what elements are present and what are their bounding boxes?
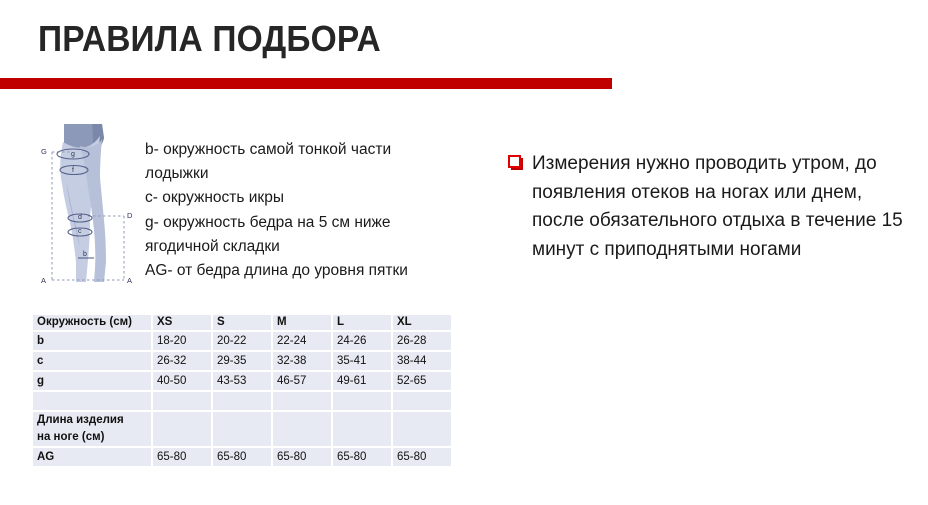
row-value-xs: 26-32 [152, 351, 212, 371]
table-row: AG 65-80 65-80 65-80 65-80 65-80 [33, 447, 451, 467]
section-cell [152, 411, 212, 447]
row-value-l: 49-61 [332, 371, 392, 391]
spacer-cell [272, 391, 332, 411]
legend-line-g: g- окружность бедра на 5 см ниже ягодичн… [145, 211, 445, 259]
row-label: c [33, 351, 152, 371]
svg-text:A: A [41, 276, 46, 285]
table-header-cell-measure: Окружность (см) [33, 315, 152, 331]
section-cell [392, 411, 451, 447]
row-value-xl: 38-44 [392, 351, 451, 371]
page-title: ПРАВИЛА ПОДБОРА [38, 17, 381, 61]
section-cell [332, 411, 392, 447]
size-chart-table: Окружность (см) XS S M L XL b 18-20 20-2… [33, 315, 451, 468]
row-value-m: 46-57 [272, 371, 332, 391]
svg-text:D: D [127, 211, 133, 220]
leg-measurement-diagram: g f d c b G D A A [36, 122, 146, 292]
row-value-s: 20-22 [212, 331, 272, 351]
row-value-l: 24-26 [332, 331, 392, 351]
table-header-cell-l: L [332, 315, 392, 331]
table-row: c 26-32 29-35 32-38 35-41 38-44 [33, 351, 451, 371]
row-label: b [33, 331, 152, 351]
table-header-cell-xl: XL [392, 315, 451, 331]
table-header-cell-xs: XS [152, 315, 212, 331]
red-square-bullet-icon [508, 155, 523, 170]
svg-text:d: d [78, 214, 82, 221]
note-text: Измерения нужно проводить утром, до появ… [532, 150, 912, 264]
svg-text:c: c [78, 228, 82, 235]
row-value-s: 43-53 [212, 371, 272, 391]
row-value-xs: 18-20 [152, 331, 212, 351]
legend-line-b: b- окружность самой тонкой части лодыжки [145, 138, 445, 186]
row-value-xs: 40-50 [152, 371, 212, 391]
svg-text:G: G [41, 147, 47, 156]
legend-line-ag: AG- от бедра длина до уровня пятки [145, 259, 445, 283]
table-header-row: Окружность (см) XS S M L XL [33, 315, 451, 331]
table-header-cell-m: M [272, 315, 332, 331]
svg-text:A: A [127, 276, 132, 285]
row-value-m: 65-80 [272, 447, 332, 467]
row-label: g [33, 371, 152, 391]
svg-text:g: g [71, 151, 75, 158]
svg-text:b: b [83, 251, 87, 258]
section-cell [272, 411, 332, 447]
table-row: g 40-50 43-53 46-57 49-61 52-65 [33, 371, 451, 391]
spacer-cell [33, 391, 152, 411]
row-value-m: 32-38 [272, 351, 332, 371]
section-cell [212, 411, 272, 447]
section-label-product-length: Длина изделия на ноге (см) [33, 411, 152, 447]
legend-line-c: c- окружность икры [145, 186, 445, 210]
row-value-m: 22-24 [272, 331, 332, 351]
table-section-header-row: Длина изделия на ноге (см) [33, 411, 451, 447]
row-label: AG [33, 447, 152, 467]
row-value-xl: 26-28 [392, 331, 451, 351]
table-header-cell-s: S [212, 315, 272, 331]
spacer-cell [332, 391, 392, 411]
row-value-xs: 65-80 [152, 447, 212, 467]
row-value-l: 65-80 [332, 447, 392, 467]
table-row: b 18-20 20-22 22-24 24-26 26-28 [33, 331, 451, 351]
row-value-xl: 52-65 [392, 371, 451, 391]
title-accent-rule [0, 78, 612, 89]
spacer-cell [152, 391, 212, 411]
measurement-legend: b- окружность самой тонкой части лодыжки… [145, 138, 445, 283]
spacer-cell [392, 391, 451, 411]
table-spacer-row [33, 391, 451, 411]
row-value-xl: 65-80 [392, 447, 451, 467]
spacer-cell [212, 391, 272, 411]
measurement-note: Измерения нужно проводить утром, до появ… [508, 150, 912, 264]
row-value-s: 65-80 [212, 447, 272, 467]
row-value-l: 35-41 [332, 351, 392, 371]
row-value-s: 29-35 [212, 351, 272, 371]
svg-text:f: f [72, 167, 74, 174]
